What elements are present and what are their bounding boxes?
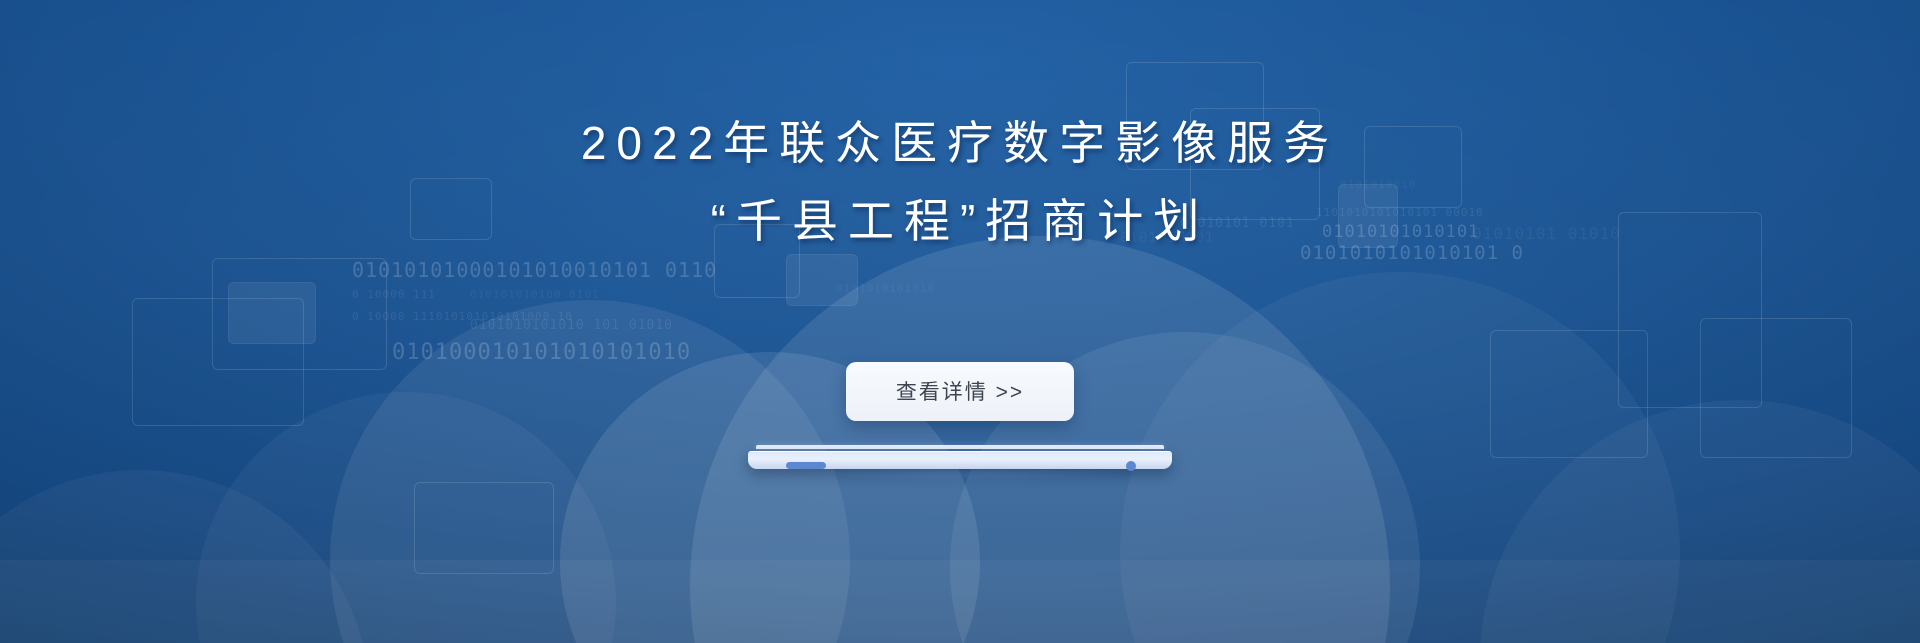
laptop-glow — [774, 471, 1146, 485]
cloud-graphic — [0, 0, 1920, 643]
laptop-trackpad-notch-icon — [786, 462, 826, 469]
page-title: 2022年联众医疗数字影像服务 “千县工程”招商计划 — [0, 104, 1920, 260]
promo-banner: 01010101000101010010101 0110 0 10000 111… — [0, 0, 1920, 643]
headline-line-1: 2022年联众医疗数字影像服务 — [0, 104, 1920, 182]
headline-line-2: “千县工程”招商计划 — [0, 182, 1920, 260]
laptop-base-graphic — [748, 445, 1172, 475]
laptop-screen-edge — [756, 445, 1164, 449]
laptop-power-dot-icon — [1126, 461, 1136, 471]
cta-container: 查看详情 >> — [0, 362, 1920, 421]
view-details-button[interactable]: 查看详情 >> — [846, 362, 1074, 421]
cloud-base — [0, 560, 1920, 643]
laptop-deck — [748, 451, 1172, 469]
